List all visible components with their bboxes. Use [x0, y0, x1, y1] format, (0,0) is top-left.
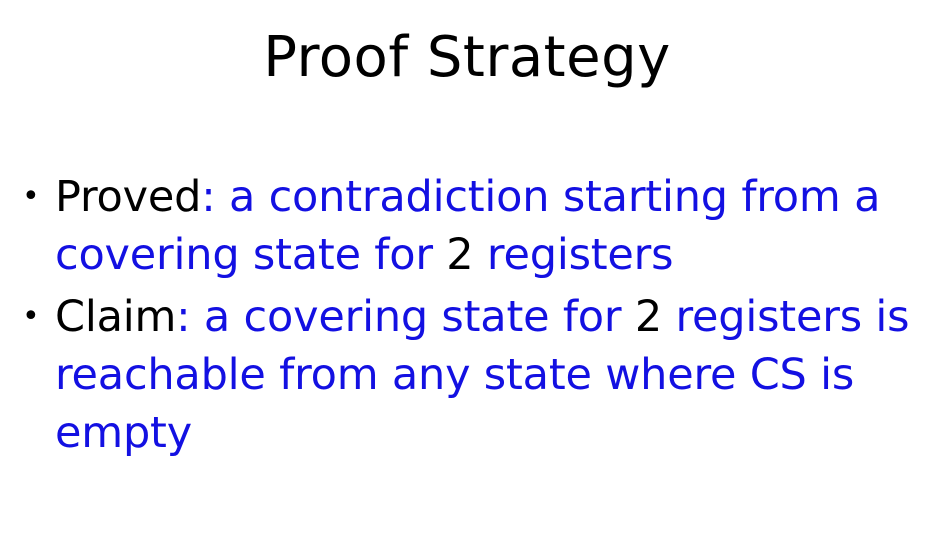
- bullet-text: Claim: a covering state for 2 registers …: [55, 288, 920, 462]
- list-item: • Proved: a contradiction starting from …: [14, 168, 920, 284]
- bullet-body-part1: a covering state for: [190, 292, 634, 342]
- list-item: • Claim: a covering state for 2 register…: [14, 288, 920, 462]
- bullet-separator: :: [176, 292, 190, 342]
- bullet-emphasis-number: 2: [446, 230, 473, 280]
- bullet-label: Proved: [55, 172, 201, 222]
- bullet-label: Claim: [55, 292, 176, 342]
- bullet-text: Proved: a contradiction starting from a …: [55, 168, 920, 284]
- bullet-body-part2: registers: [473, 230, 673, 280]
- bullet-point-icon: •: [22, 168, 44, 226]
- bullet-list: • Proved: a contradiction starting from …: [14, 168, 920, 466]
- bullet-separator: :: [201, 172, 215, 222]
- presentation-slide: Proof Strategy • Proved: a contradiction…: [0, 0, 934, 533]
- page-title: Proof Strategy: [0, 26, 934, 90]
- bullet-emphasis-number: 2: [635, 292, 662, 342]
- bullet-point-icon: •: [22, 288, 44, 346]
